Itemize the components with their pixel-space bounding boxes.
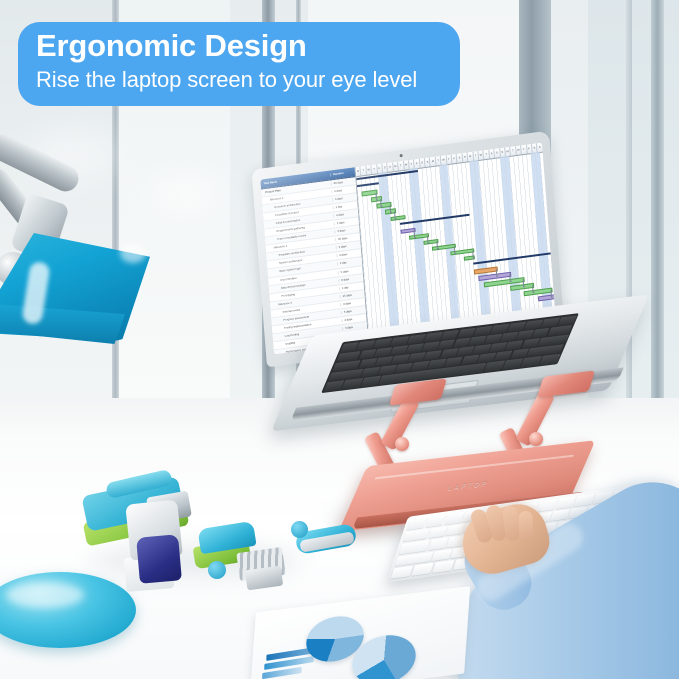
stand-brand-logo: LAPTOP (447, 480, 490, 492)
keyboard-key[interactable] (484, 361, 505, 372)
window-glare (150, 175, 220, 215)
window-mullion (651, 0, 664, 430)
finger (518, 511, 533, 542)
keyboard-key[interactable] (445, 524, 464, 537)
product-marketing-image: Task Name Duration Project Plan60 daysMi… (0, 0, 679, 679)
duration-cell: 6 days (338, 276, 363, 282)
webcam-icon (399, 154, 402, 157)
keyboard-key[interactable] (432, 560, 455, 573)
keyboard-key[interactable] (323, 381, 344, 392)
duration-cell: 60 days (331, 179, 356, 185)
duration-cell: 2 day (337, 260, 362, 266)
duration-cell: 15 days (339, 292, 364, 298)
keyboard-key[interactable] (539, 354, 560, 365)
timescale-tick: M (543, 143, 549, 152)
keyboard-key[interactable] (342, 378, 363, 389)
keyboard-key[interactable] (551, 509, 570, 522)
duration-cell: 1 day (333, 203, 358, 209)
keyboard-key[interactable] (428, 526, 447, 539)
staple-remover-knob (291, 521, 308, 538)
keyboard-key[interactable] (558, 315, 577, 325)
window-mullion (626, 0, 632, 430)
keyboard-key[interactable] (521, 356, 542, 367)
stapler-knob (208, 561, 226, 579)
duration-cell: 5 days (331, 187, 356, 193)
duration-cell: 20 days (335, 236, 360, 242)
duration-cell: 5 days (338, 268, 363, 274)
duration-cell: 3 days (341, 308, 366, 314)
mouse-pad-highlight (6, 582, 84, 608)
gantt-task-rows: Project Plan60 daysMilestone 15 daysRese… (261, 177, 371, 354)
lamp-highlight (120, 243, 146, 263)
keyboard-key[interactable] (547, 325, 572, 336)
stand-hinge (395, 437, 409, 451)
headline-banner: Ergonomic Design Rise the laptop screen … (18, 22, 460, 106)
duration-cell: 3 days (332, 195, 357, 201)
duration-cell: 4 days (333, 211, 358, 217)
keyboard-key[interactable] (502, 359, 523, 370)
duration-cell: 3 days (336, 244, 361, 250)
duration-cell: 4 days (341, 316, 366, 322)
duration-cell: 4 days (340, 300, 365, 306)
duration-cell: 4 days (336, 252, 361, 258)
stamp-handle (136, 534, 182, 583)
keyboard-key[interactable] (391, 566, 414, 579)
keyboard-key[interactable] (360, 376, 381, 387)
stand-hinge (529, 432, 543, 446)
duration-cell: 3 days (334, 227, 359, 233)
headline-title: Ergonomic Design (36, 27, 444, 65)
gantt-task-table: Task Name Duration Project Plan60 daysMi… (260, 167, 369, 354)
headline-subtitle: Rise the laptop screen to your eye level (36, 65, 444, 95)
keyboard-key[interactable] (428, 537, 448, 550)
column-header-duration: Duration (330, 170, 355, 176)
duration-cell: 2 days (334, 219, 359, 225)
duration-cell: 1 day (339, 284, 364, 290)
keyboard-key[interactable] (411, 563, 434, 576)
